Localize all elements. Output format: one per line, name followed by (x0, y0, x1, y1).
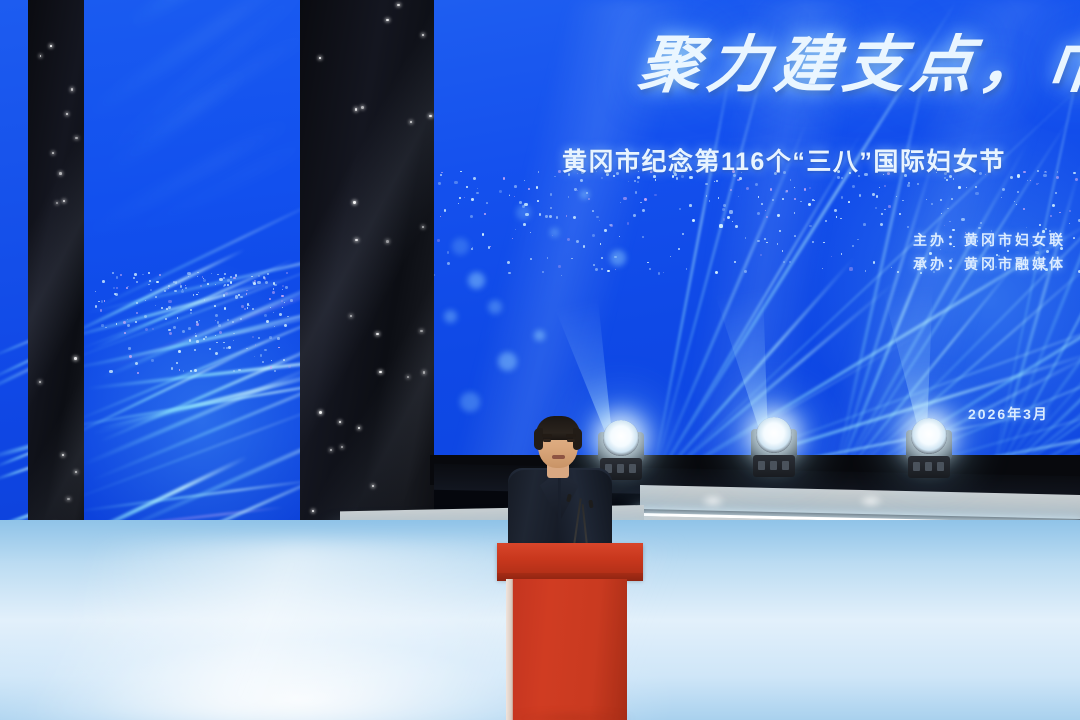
event-main-title: 聚力建支点，巾 (634, 14, 1080, 104)
screen-sparkle (627, 222, 630, 225)
panel-sparkle (100, 309, 103, 312)
screen-sparkle (716, 180, 718, 182)
panel-sparkle (151, 359, 154, 362)
panel-sparkle (215, 284, 216, 285)
star-led (429, 115, 432, 118)
screen-sparkle (888, 205, 891, 208)
star-led (67, 498, 69, 500)
panel-sparkle (227, 279, 230, 282)
panel-sparkle (128, 347, 130, 349)
panel-sparkle (148, 272, 150, 274)
panel-sparkle (168, 329, 171, 332)
panel-sparkle (95, 291, 96, 292)
screen-sparkle (891, 267, 892, 268)
screen-sparkle (593, 264, 595, 266)
screen-sparkle (735, 225, 738, 228)
panel-sparkle (224, 273, 226, 275)
screen-sparkle (558, 170, 561, 173)
screen-sparkle (458, 203, 459, 204)
panel-sparkle (228, 346, 231, 349)
strip-light-ribbon (0, 461, 28, 482)
panel-sparkle (144, 315, 147, 318)
screen-sparkle (524, 180, 526, 182)
panel-sparkle (155, 296, 157, 298)
screen-sparkle (600, 243, 601, 244)
screen-sparkle (931, 203, 933, 205)
panel-sparkle (281, 300, 283, 302)
panel-sparkle (178, 350, 181, 353)
screen-sparkle (447, 251, 449, 253)
screen-sparkle (1069, 223, 1070, 224)
panel-sparkle (246, 293, 247, 294)
screen-sparkle (592, 234, 595, 237)
panel-sparkle (135, 362, 138, 365)
panel-sparkle (254, 280, 255, 281)
screen-sparkle (940, 199, 942, 201)
panel-sparkle (215, 314, 218, 317)
panel-sparkle (126, 287, 129, 290)
screen-sparkle (566, 215, 568, 217)
panel-sparkle (273, 312, 274, 313)
screen-sparkle (730, 189, 732, 191)
screen-sparkle (944, 225, 945, 226)
screen-sparkle (561, 275, 562, 276)
screen-sparkle (539, 213, 541, 215)
panel-sparkle (272, 291, 275, 294)
screen-sparkle (473, 177, 476, 180)
panel-sparkle (251, 276, 252, 277)
panel-sparkle (230, 276, 231, 277)
event-coorganizer: 承办：黄冈市融媒体 (913, 254, 1066, 274)
speaker-mouth (552, 455, 565, 459)
star-led (353, 201, 355, 203)
screen-sparkle (865, 270, 867, 272)
panel-sparkle (278, 347, 279, 348)
screen-sparkle (604, 229, 607, 232)
screen-sparkle (951, 198, 953, 200)
screen-sparkle (508, 272, 511, 275)
screen-sparkle (779, 230, 780, 231)
screen-sparkle (1038, 183, 1039, 184)
screen-sparkle (841, 196, 843, 198)
panel-sparkle (233, 277, 236, 280)
panel-sparkle (263, 276, 265, 278)
panel-sparkle (218, 324, 221, 327)
screen-sparkle (1030, 180, 1031, 181)
left-led-panel (82, 0, 304, 585)
panel-sparkle (224, 307, 227, 310)
screen-sparkle (682, 233, 684, 235)
panel-sparkle (284, 324, 287, 327)
screen-sparkle (471, 248, 473, 250)
screen-sparkle (1073, 172, 1075, 174)
panel-sparkle (142, 274, 143, 275)
screen-sparkle (689, 204, 692, 207)
panel-sparkle (134, 273, 137, 276)
screen-sparkle (571, 258, 572, 259)
screen-sparkle (471, 198, 474, 201)
screen-sparkle (958, 186, 961, 189)
screen-sparkle (840, 218, 842, 220)
panel-sparkle (274, 370, 275, 371)
panel-sparkle (290, 299, 293, 302)
panel-sparkle (219, 278, 222, 281)
panel-sparkle (116, 287, 118, 289)
screen-sparkle (440, 174, 442, 176)
screen-sparkle (470, 215, 473, 218)
star-led (372, 485, 374, 487)
screen-sparkle (757, 212, 760, 215)
screen-sparkle (574, 188, 576, 190)
screen-sparkle (1014, 201, 1015, 202)
panel-sparkle (116, 276, 118, 278)
screen-sparkle (514, 196, 516, 198)
screen-bokeh-dot (516, 205, 531, 220)
panel-sparkle (253, 282, 256, 285)
screen-sparkle (766, 216, 768, 218)
screen-sparkle (822, 268, 823, 269)
screen-sparkle (567, 238, 570, 241)
star-led (423, 371, 426, 374)
screen-sparkle (879, 187, 880, 188)
event-date: 2026年3月 (968, 404, 1049, 424)
screen-sparkle (628, 181, 629, 182)
screen-sparkle (438, 182, 440, 184)
panel-sparkle (176, 362, 178, 364)
screen-sparkle (852, 185, 855, 188)
panel-sparkle (224, 284, 226, 286)
screen-sparkle (738, 196, 739, 197)
panel-sparkle (189, 339, 191, 341)
star-led (319, 57, 321, 59)
screen-sparkle (655, 179, 657, 181)
panel-sparkle (273, 282, 275, 284)
panel-sparkle (249, 305, 250, 306)
screen-sparkle (1069, 210, 1071, 212)
screen-sparkle (523, 223, 526, 226)
panel-sparkle (244, 308, 246, 310)
panel-sparkle (260, 354, 263, 357)
panel-sparkle (273, 288, 274, 289)
screen-sparkle (757, 240, 760, 243)
screen-sparkle (946, 179, 948, 181)
panel-sparkle (262, 361, 264, 363)
event-organizer: 主办：黄冈市妇女联 (913, 230, 1066, 250)
screen-sparkle (949, 221, 950, 222)
screen-sparkle (642, 236, 644, 238)
screen-sparkle (706, 195, 707, 196)
screen-sparkle (782, 198, 784, 200)
panel-sparkle (161, 307, 163, 309)
screen-sparkle (1017, 174, 1020, 177)
panel-sparkle (195, 335, 197, 337)
panel-sparkle (216, 342, 217, 343)
panel-sparkle (180, 285, 183, 288)
speaker-brow-left (542, 434, 552, 437)
screen-sparkle (444, 209, 446, 211)
panel-sparkle (101, 324, 103, 326)
event-subtitle: 黄冈市纪念第116个“三八”国际妇女节 (562, 142, 1006, 178)
screen-sparkle (709, 200, 711, 202)
screen-bokeh-dot (452, 238, 469, 255)
screen-bokeh-dot (550, 228, 559, 237)
screen-sparkle (549, 215, 552, 218)
panel-sparkle (180, 283, 181, 284)
screen-sparkle (745, 237, 747, 239)
panel-sparkle (252, 336, 254, 338)
screen-sparkle (881, 213, 883, 215)
screen-sparkle (1056, 176, 1059, 179)
screen-sparkle (635, 191, 638, 194)
panel-sparkle (277, 337, 280, 340)
screen-bokeh-dot (610, 250, 626, 266)
screen-sparkle (794, 198, 796, 200)
screen-sparkle (490, 246, 491, 247)
screen-sparkle (1017, 191, 1019, 193)
screen-sparkle (623, 197, 626, 200)
screen-sparkle (1026, 227, 1027, 228)
screen-sparkle (880, 223, 883, 226)
screen-sparkle (514, 185, 517, 188)
screen-sparkle (718, 197, 719, 198)
screen-sparkle (849, 267, 852, 270)
speaker-eye-right (567, 439, 575, 442)
screen-sparkle (772, 199, 774, 201)
screen-sparkle (899, 213, 901, 215)
screen-sparkle (831, 256, 832, 257)
screen-sparkle (1023, 171, 1026, 174)
panel-sparkle (145, 300, 146, 301)
screen-sparkle (722, 208, 725, 211)
panel-sparkle (247, 303, 249, 305)
panel-sparkle (254, 356, 255, 357)
star-led (422, 226, 424, 228)
screen-sparkle (941, 213, 943, 215)
panel-sparkle (173, 326, 176, 329)
panel-sparkle (197, 276, 199, 278)
panel-sparkle (240, 296, 242, 298)
screen-sparkle (777, 214, 779, 216)
panel-sparkle (227, 284, 229, 286)
panel-sparkle (168, 288, 169, 289)
star-led (350, 315, 352, 317)
screen-sparkle (460, 171, 462, 173)
screen-sparkle (834, 209, 837, 212)
panel-sparkle (181, 290, 184, 293)
screen-sparkle (678, 248, 680, 250)
screen-sparkle (1055, 192, 1057, 194)
panel-sparkle (187, 272, 190, 275)
panel-sparkle (116, 323, 118, 325)
screen-sparkle (488, 246, 491, 249)
panel-sparkle (230, 281, 233, 284)
panel-sparkle (159, 274, 161, 276)
screen-sparkle (760, 254, 762, 256)
panel-sparkle (135, 321, 137, 323)
screen-sparkle (528, 188, 531, 191)
screen-sparkle (554, 176, 555, 177)
panel-sparkle (223, 342, 225, 344)
panel-sparkle (136, 312, 138, 314)
screen-sparkle (538, 171, 540, 173)
screen-sparkle (926, 199, 927, 200)
panel-sparkle (102, 280, 105, 283)
screen-sparkle (766, 242, 768, 244)
screen-sparkle (804, 188, 807, 191)
screen-sparkle (782, 250, 783, 251)
panel-sparkle (282, 307, 283, 308)
screen-sparkle (615, 269, 616, 270)
panel-sparkle (219, 331, 222, 334)
panel-sparkle (156, 281, 158, 283)
panel-sparkle (214, 305, 216, 307)
screen-sparkle (734, 261, 736, 263)
stage-scene: 聚力建支点，巾 黄冈市纪念第116个“三八”国际妇女节 主办：黄冈市妇女联 承办… (0, 0, 1080, 720)
screen-sparkle (755, 183, 758, 186)
screen-sparkle (1059, 212, 1061, 214)
screen-sparkle (1001, 197, 1002, 198)
spotlight-lens (756, 417, 792, 453)
screen-sparkle (800, 201, 801, 202)
screen-sparkle (558, 265, 561, 268)
panel-sparkle (164, 290, 166, 292)
star-led (341, 446, 343, 448)
screen-sparkle (732, 221, 733, 222)
screen-sparkle (727, 216, 730, 219)
panel-sparkle (269, 336, 272, 339)
screen-sparkle (808, 203, 811, 206)
screen-sparkle (876, 195, 878, 197)
panel-sparkle (203, 279, 206, 282)
panel-sparkle (98, 301, 99, 302)
screen-sparkle (637, 181, 639, 183)
star-led (358, 427, 360, 429)
panel-sparkle (258, 275, 260, 277)
screen-sparkle (789, 261, 791, 263)
panel-sparkle (137, 372, 139, 374)
screen-sparkle (961, 218, 964, 221)
screen-sparkle (654, 194, 657, 197)
screen-sparkle (642, 209, 645, 212)
panel-sparkle (207, 283, 209, 285)
screen-sparkle (515, 229, 516, 230)
floor-light-reflection (858, 494, 884, 508)
screen-bokeh-dot (580, 190, 589, 199)
panel-sparkle (279, 313, 282, 316)
screen-sparkle (670, 256, 671, 257)
panel-sparkle (196, 323, 199, 326)
screen-sparkle (794, 212, 795, 213)
panel-sparkle (145, 328, 148, 331)
panel-sparkle (148, 284, 150, 286)
screen-sparkle (790, 179, 791, 180)
panel-sparkle (123, 321, 126, 324)
panel-sparkle (232, 321, 234, 323)
panel-light-streak (118, 23, 304, 154)
screen-sparkle (863, 223, 866, 226)
screen-sparkle (764, 238, 766, 240)
panel-sparkle (271, 360, 272, 361)
screen-sparkle (852, 245, 854, 247)
screen-sparkle (1043, 174, 1046, 177)
screen-sparkle (583, 245, 585, 247)
panel-sparkle (283, 359, 285, 361)
screen-sparkle (907, 226, 910, 229)
screen-sparkle (588, 198, 590, 200)
screen-sparkle (580, 179, 583, 182)
panel-sparkle (247, 307, 248, 308)
screen-sparkle (859, 194, 862, 197)
screen-sparkle (1073, 237, 1075, 239)
panel-sparkle (169, 332, 172, 335)
panel-sparkle (286, 272, 288, 274)
screen-sparkle (477, 188, 478, 189)
panel-sparkle (182, 330, 185, 333)
screen-sparkle (825, 220, 826, 221)
panel-sparkle (217, 274, 219, 276)
screen-sparkle (619, 236, 620, 237)
panel-light-streak (124, 130, 304, 239)
screen-sparkle (556, 216, 559, 219)
panel-sparkle (196, 294, 197, 295)
panel-sparkle (168, 306, 171, 309)
screen-sparkle (592, 210, 594, 212)
star-led (330, 449, 332, 451)
screen-sparkle (440, 216, 442, 218)
panel-sparkle (285, 286, 287, 288)
screen-sparkle (794, 235, 796, 237)
panel-sparkle (183, 370, 184, 371)
screen-sparkle (519, 201, 522, 204)
panel-sparkle (112, 272, 114, 274)
screen-sparkle (975, 192, 978, 195)
screen-sparkle (744, 270, 747, 273)
panel-sparkle (190, 309, 192, 311)
panel-sparkle (225, 292, 228, 295)
screen-bokeh-dot (444, 310, 457, 323)
panel-sparkle (179, 369, 180, 370)
spotlight-lens (911, 418, 947, 454)
panel-sparkle (269, 298, 271, 300)
screen-sparkle (647, 262, 649, 264)
screen-sparkle (530, 258, 532, 260)
screen-sparkle (484, 213, 486, 215)
screen-sparkle (437, 239, 440, 242)
screen-sparkle (663, 272, 664, 273)
panel-sparkle (114, 293, 116, 295)
screen-sparkle (978, 227, 981, 230)
panel-sparkle (198, 292, 199, 293)
panel-light-streak (82, 117, 296, 239)
screen-bokeh-dot (534, 330, 545, 341)
panel-sparkle (133, 277, 135, 279)
screen-sparkle (917, 183, 920, 186)
screen-sparkle (947, 208, 948, 209)
screen-sparkle (746, 187, 749, 190)
screen-sparkle (723, 204, 726, 207)
screen-sparkle (547, 257, 549, 259)
star-led (319, 411, 322, 414)
star-led (386, 19, 388, 21)
screen-sparkle (459, 197, 460, 198)
screen-sparkle (441, 172, 442, 173)
screen-sparkle (599, 220, 600, 221)
screen-sparkle (658, 272, 661, 275)
star-led (50, 45, 52, 47)
screen-sparkle (634, 180, 636, 182)
screen-sparkle (902, 200, 903, 201)
screen-sparkle (607, 270, 610, 273)
